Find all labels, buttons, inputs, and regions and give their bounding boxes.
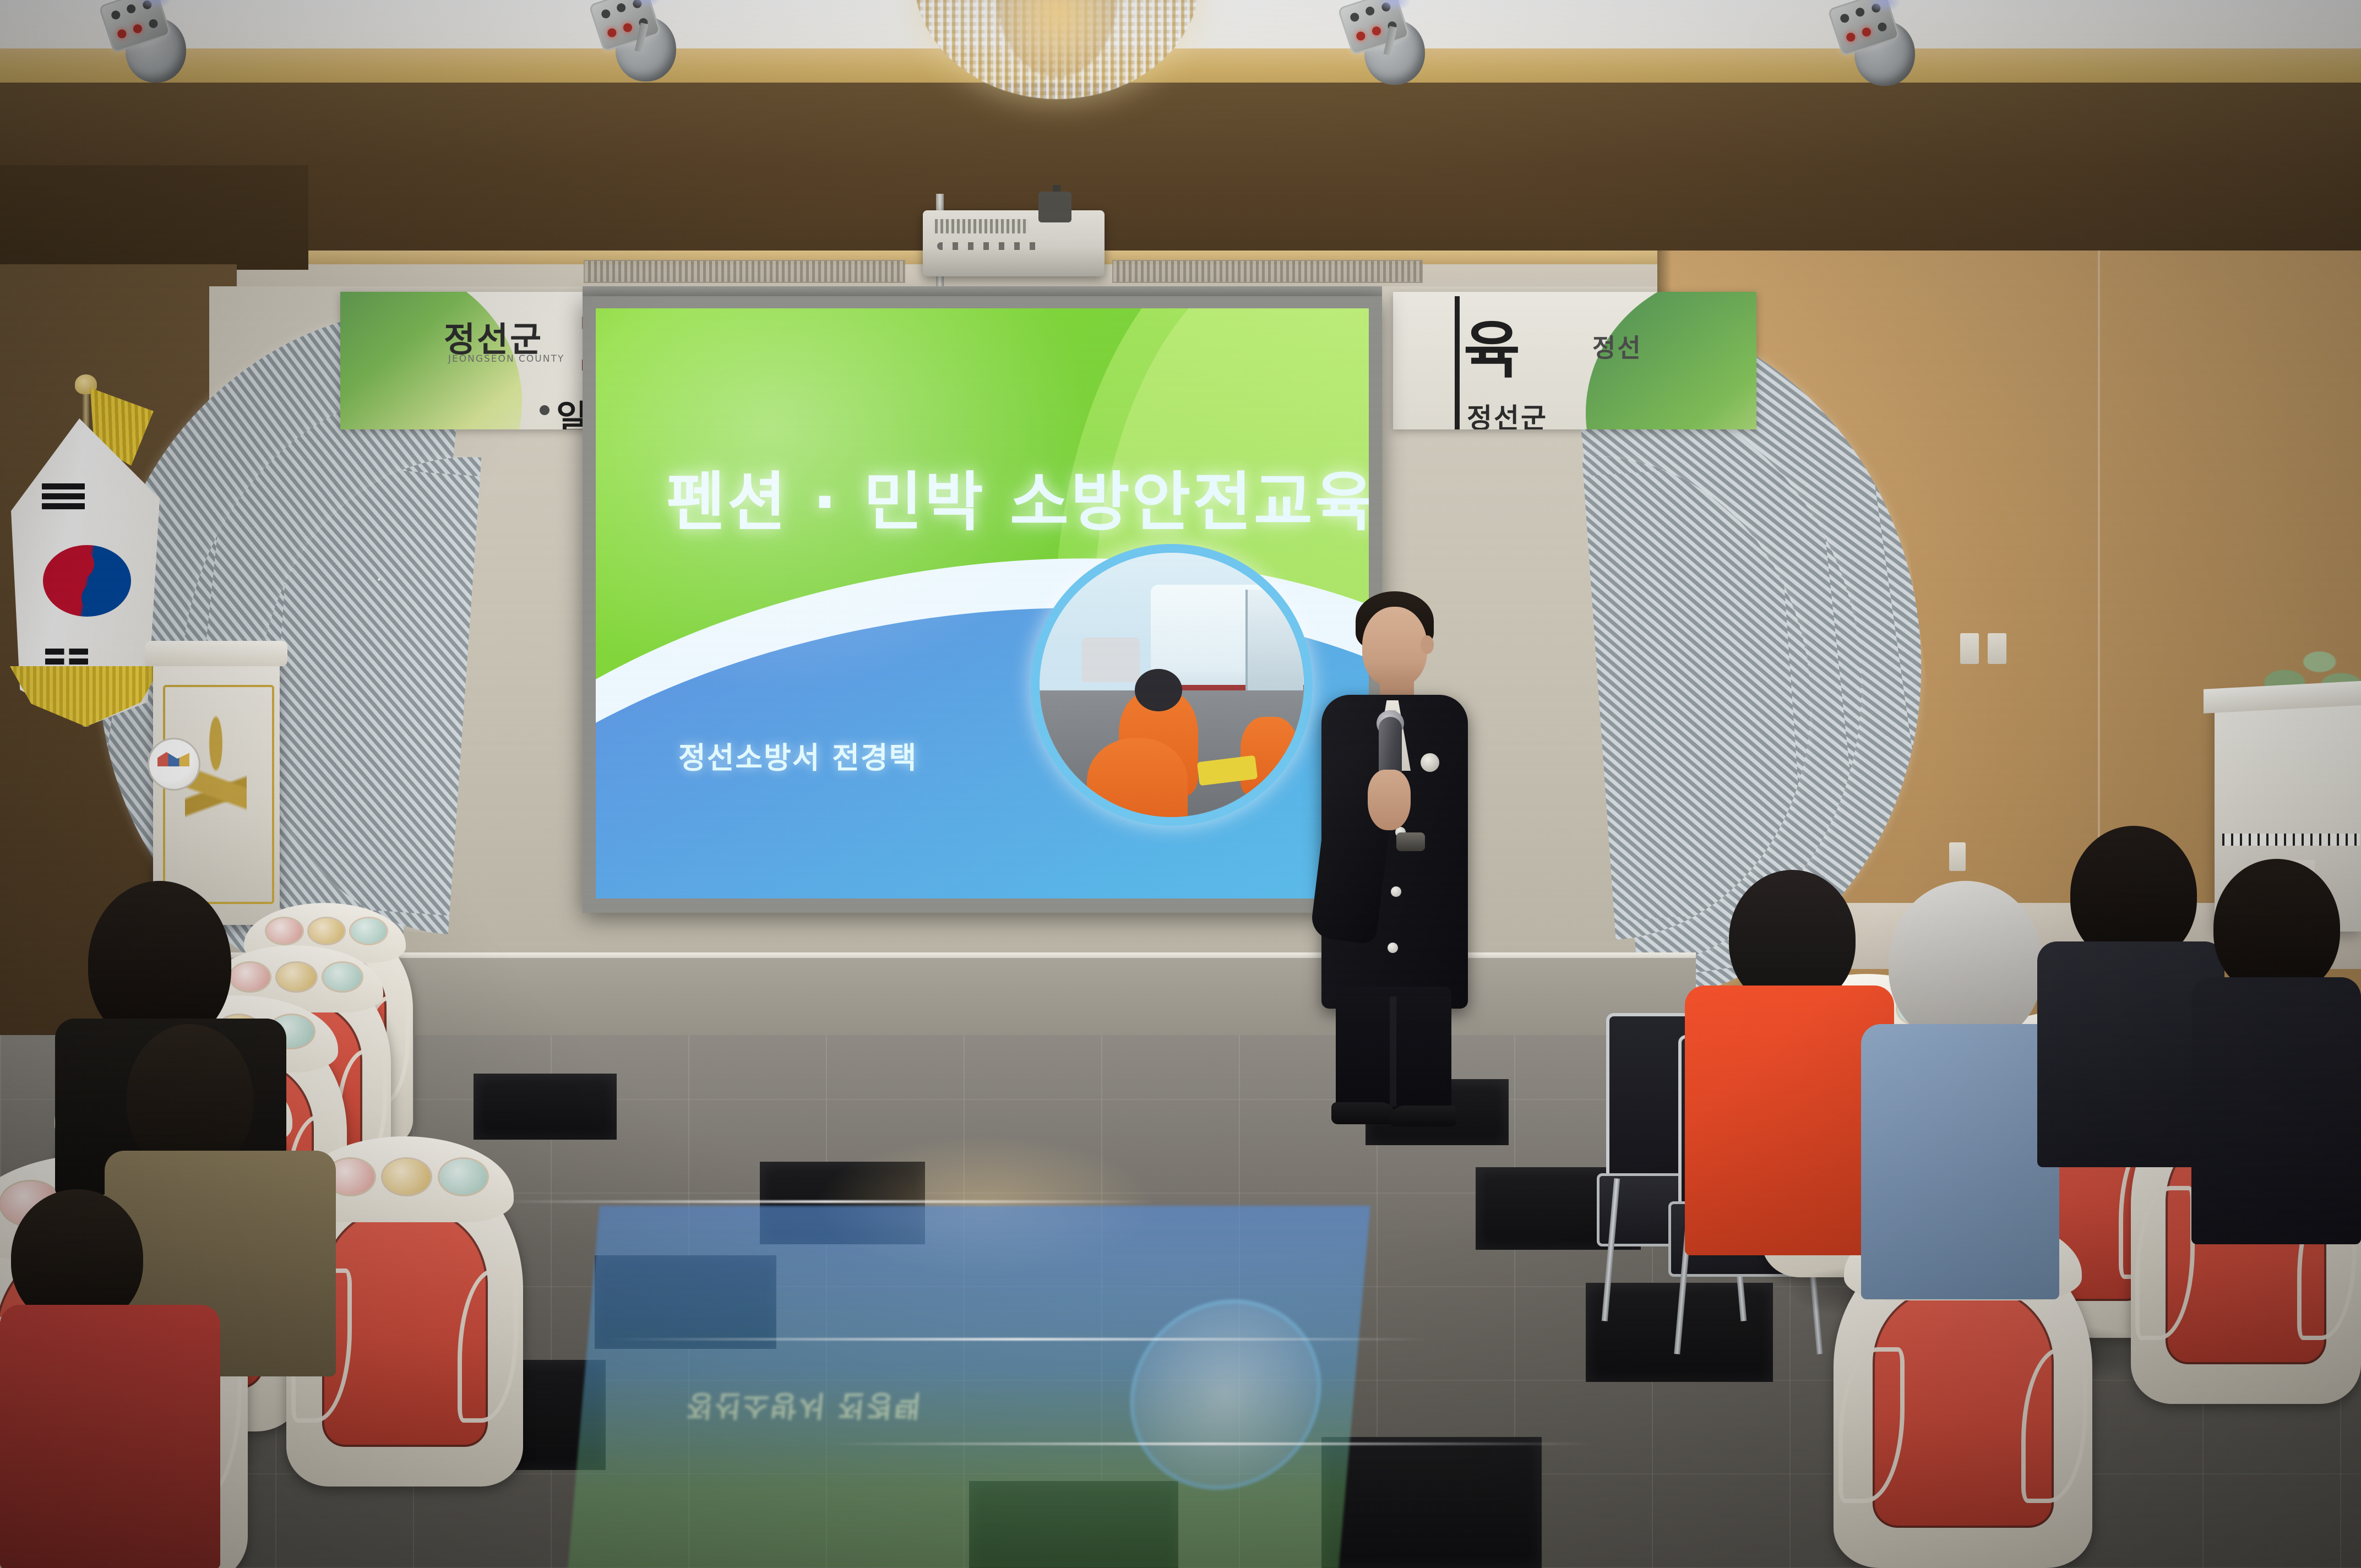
ceiling-soffit-left <box>0 165 308 270</box>
presenter-shoe-right <box>1390 1106 1457 1126</box>
audience-member-right-grey-hair <box>1861 881 2059 1299</box>
ceiling-vent-left <box>584 260 905 283</box>
presenter-hand <box>1368 770 1411 830</box>
spotlight-4 <box>1834 0 1927 90</box>
audience-member-right-far <box>2191 859 2361 1244</box>
spotlight-2 <box>595 0 688 85</box>
presenter-ear <box>1421 635 1434 654</box>
presenter-badge-icon <box>1421 753 1439 772</box>
spotlight-3 <box>1343 0 1437 89</box>
banner-right-org: 정선군 <box>1467 396 1548 429</box>
slide-title: 펜션 · 민박 소방안전교육 <box>666 450 1369 543</box>
wall-switch-plate-2[interactable] <box>1988 633 2006 664</box>
photo-scene: 정선군 JEONGSEON COUNTY 20 일시 : 육 정선 정선군 펜션… <box>0 0 2361 1568</box>
presentation-slide: 펜션 · 민박 소방안전교육 정선소방서 전경택 <box>596 308 1369 899</box>
banner-left-org-en: JEONGSEON COUNTY <box>448 353 564 364</box>
presenter-wristwatch <box>1396 832 1425 851</box>
county-seal-icon <box>148 738 200 791</box>
wall-switch-plate-3[interactable] <box>1949 842 1966 871</box>
banner-right-brand: 정선 <box>1592 328 1642 364</box>
wall-switch-plate-1[interactable] <box>1960 633 1979 664</box>
phoenix-emblem-icon <box>185 716 247 870</box>
floor-black-tile <box>474 1074 617 1140</box>
audience-member-left-3 <box>0 1189 231 1568</box>
floor-slide-reflection: 정선소방서 전경택 <box>568 1206 1370 1568</box>
floor-reflection-text: 정선소방서 전경택 <box>684 1387 923 1429</box>
presenter-head <box>1362 607 1427 687</box>
piano-keys <box>2222 834 2360 846</box>
banner-right-title-fragment: 육 <box>1464 301 1520 390</box>
banner-right: 육 정선 정선군 <box>1393 292 1756 429</box>
slide-photo-circle <box>1031 544 1313 826</box>
slide-subtitle: 정선소방서 전경택 <box>678 733 917 777</box>
floor-black-tile <box>1321 1437 1542 1568</box>
spotlight-1 <box>105 0 198 86</box>
crystal-chandelier <box>914 0 1200 116</box>
projector <box>923 210 1105 276</box>
ceiling-vent-right <box>1112 260 1423 283</box>
presenter <box>1303 578 1484 1140</box>
presenter-shoe-left <box>1331 1102 1396 1124</box>
